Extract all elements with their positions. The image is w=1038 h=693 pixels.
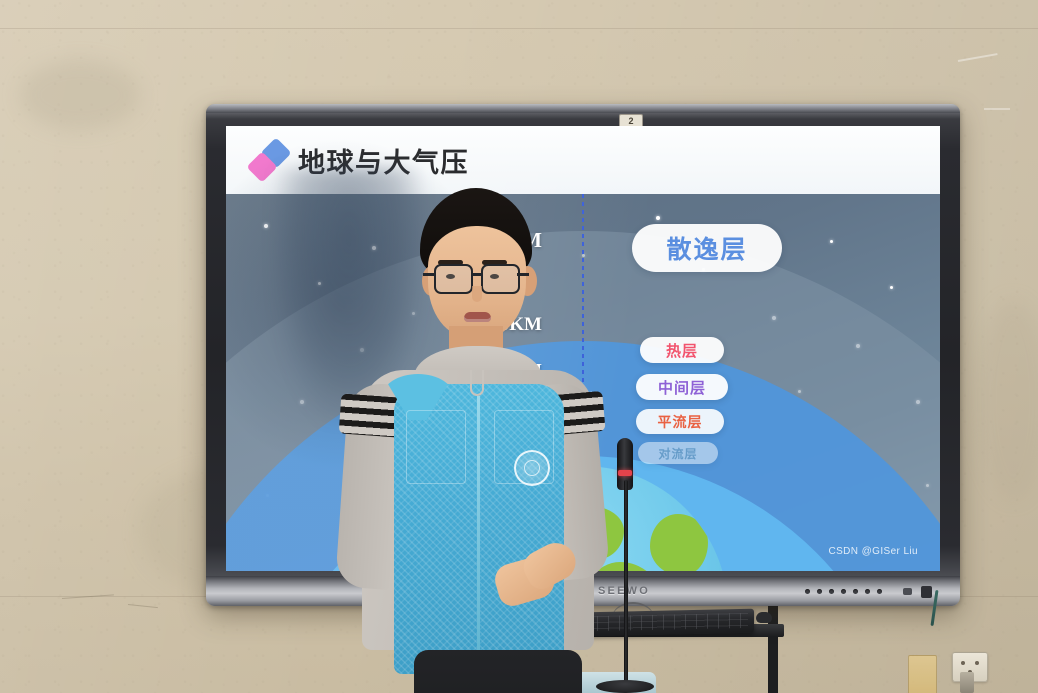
microphone-led-indicator bbox=[618, 470, 632, 476]
layer-label-mesosphere: 中间层 bbox=[658, 377, 706, 398]
wall-scuff-d bbox=[984, 108, 1010, 110]
display-power-button[interactable] bbox=[903, 588, 912, 595]
control-dot[interactable] bbox=[877, 589, 882, 594]
presenter-mouth bbox=[464, 312, 491, 322]
wall-access-panel bbox=[908, 655, 937, 693]
control-dot[interactable] bbox=[841, 589, 846, 594]
layer-label-troposphere: 对流层 bbox=[658, 445, 697, 462]
control-dot[interactable] bbox=[805, 589, 810, 594]
microphone-base bbox=[596, 680, 654, 693]
vest-emblem-badge bbox=[514, 450, 550, 486]
vest-pocket-left bbox=[406, 410, 466, 484]
vest-zipper bbox=[477, 396, 480, 668]
layer-label-exosphere: 散逸层 bbox=[666, 230, 747, 266]
power-plug bbox=[960, 672, 974, 693]
display-control-dots[interactable] bbox=[805, 589, 882, 594]
wall-seam-upper bbox=[0, 28, 1038, 29]
hoodie-drawcord bbox=[470, 370, 484, 396]
wall-smudge-a bbox=[20, 60, 140, 130]
glasses-bridge bbox=[471, 273, 483, 276]
classroom-scene: 2 地球与大气压 bbox=[0, 0, 1038, 693]
control-dot[interactable] bbox=[829, 589, 834, 594]
microphone-stand bbox=[624, 480, 628, 693]
presenter-nose bbox=[472, 286, 482, 302]
slide-watermark: CSDN @GISer Liu bbox=[828, 546, 918, 557]
layer-pill-exosphere: 散逸层 bbox=[632, 224, 782, 272]
control-dot[interactable] bbox=[817, 589, 822, 594]
layer-pill-mesosphere: 中间层 bbox=[636, 374, 728, 400]
control-dot[interactable] bbox=[865, 589, 870, 594]
display-top-trim bbox=[206, 104, 960, 113]
display-cable-port bbox=[921, 586, 932, 598]
layer-pill-troposphere: 对流层 bbox=[638, 442, 718, 464]
mouse[interactable] bbox=[756, 612, 772, 623]
presenter-pants bbox=[414, 650, 582, 693]
control-dot[interactable] bbox=[853, 589, 858, 594]
glasses-lens-left bbox=[434, 264, 473, 294]
glasses-arm-left bbox=[423, 273, 435, 276]
presenter bbox=[318, 188, 618, 693]
glasses-arm-right bbox=[517, 273, 529, 276]
layer-pill-thermosphere: 热层 bbox=[640, 337, 724, 363]
layer-pill-stratosphere: 平流层 bbox=[636, 409, 724, 434]
layer-label-thermosphere: 热层 bbox=[666, 340, 698, 361]
glasses-lens-right bbox=[481, 264, 520, 294]
layer-label-stratosphere: 平流层 bbox=[658, 412, 703, 432]
